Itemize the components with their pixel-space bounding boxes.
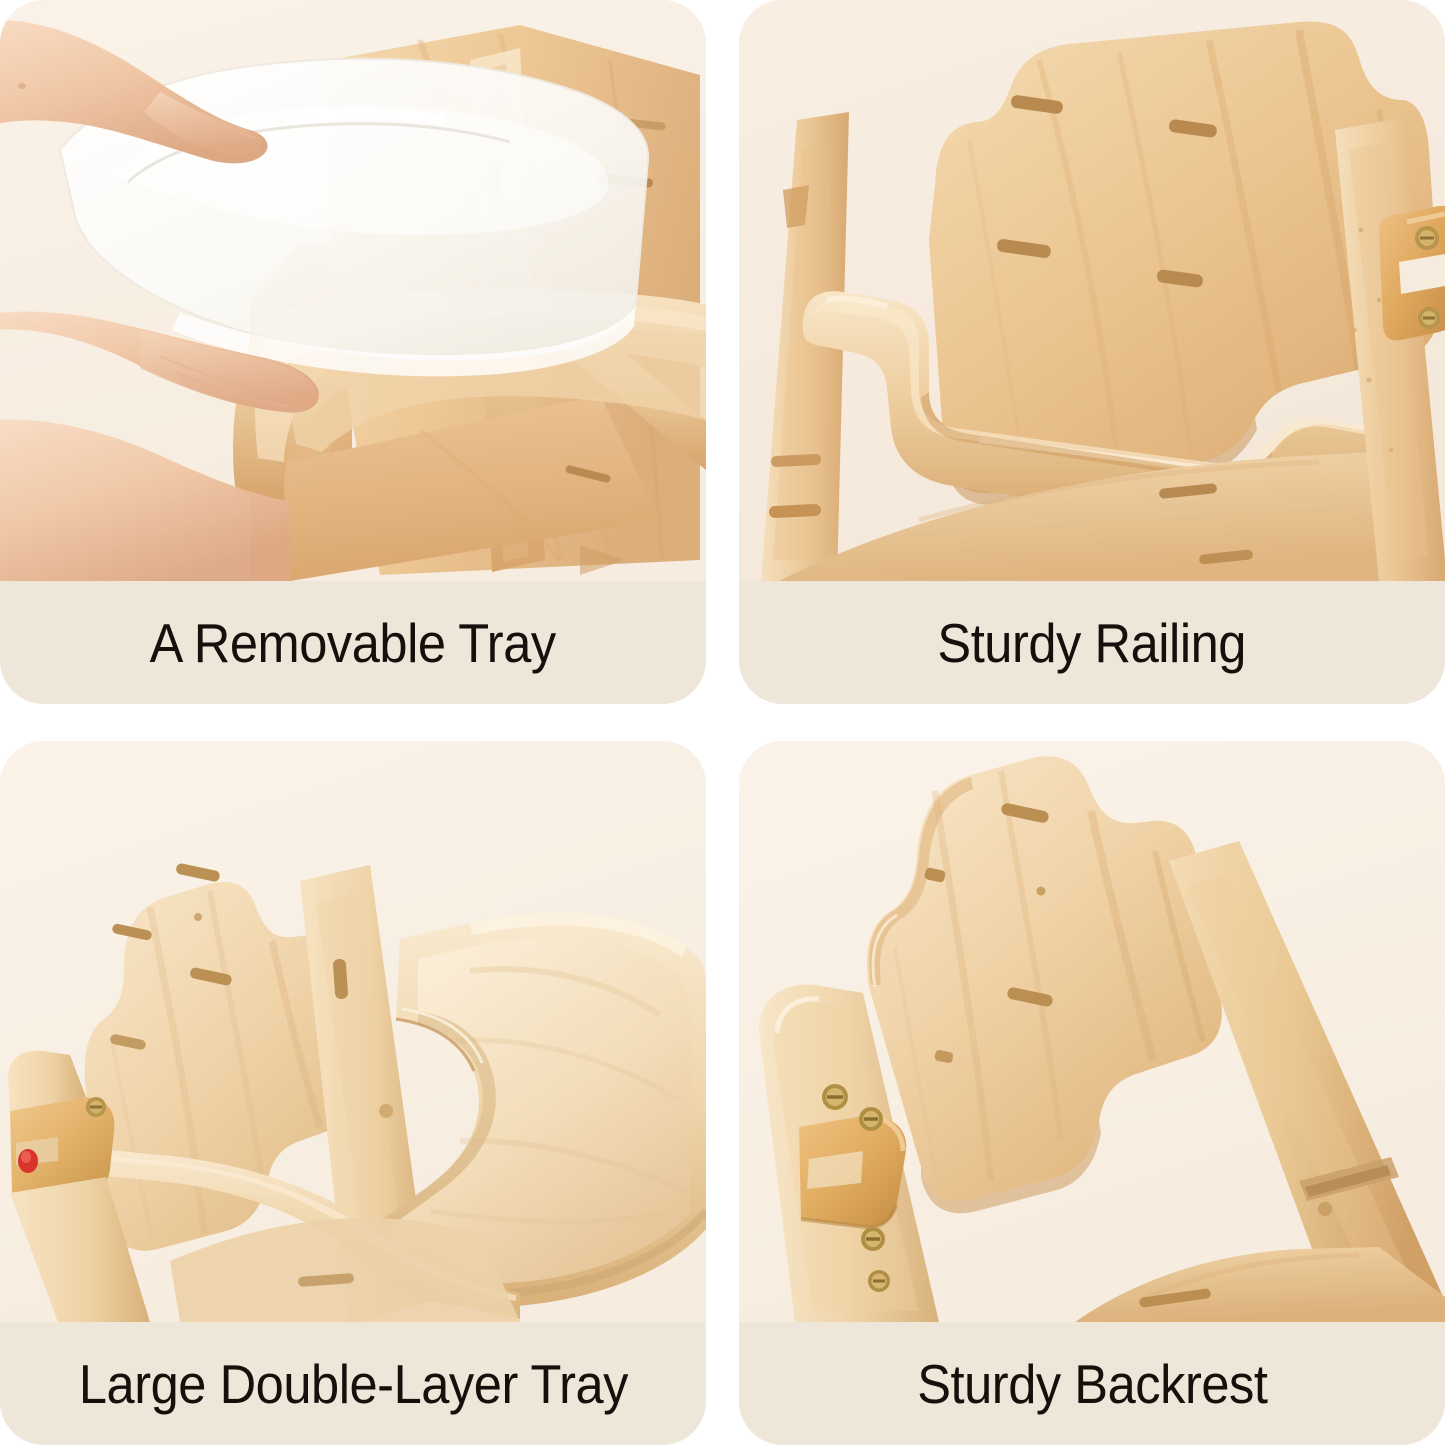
illustration-double-layer-tray: [0, 741, 706, 1322]
caption-text: Large Double-Layer Tray: [78, 1352, 627, 1416]
caption-text: Sturdy Backrest: [917, 1352, 1267, 1416]
photo-sturdy-backrest: [739, 741, 1445, 1322]
illustration-sturdy-railing: [739, 0, 1445, 581]
caption-removable-tray: A Removable Tray: [0, 581, 706, 704]
caption-sturdy-railing: Sturdy Railing: [739, 581, 1445, 704]
caption-text: Sturdy Railing: [938, 611, 1247, 675]
illustration-removable-tray: [0, 0, 706, 581]
feature-panel-sturdy-backrest: Sturdy Backrest: [739, 741, 1445, 1445]
plastic-bracket: [799, 1115, 906, 1227]
photo-double-layer-tray: [0, 741, 706, 1322]
feature-panel-double-layer-tray: Large Double-Layer Tray: [0, 741, 706, 1445]
illustration-sturdy-backrest: [739, 741, 1445, 1322]
photo-sturdy-railing: [739, 0, 1445, 581]
caption-text: A Removable Tray: [150, 611, 556, 675]
caption-sturdy-backrest: Sturdy Backrest: [739, 1322, 1445, 1445]
caption-double-layer-tray: Large Double-Layer Tray: [0, 1322, 706, 1445]
feature-panel-removable-tray: A Removable Tray: [0, 0, 706, 704]
plastic-bracket: [1379, 206, 1445, 340]
feature-panel-sturdy-railing: Sturdy Railing: [739, 0, 1445, 704]
feature-grid: A Removable Tray: [0, 0, 1445, 1445]
photo-removable-tray: [0, 0, 706, 581]
